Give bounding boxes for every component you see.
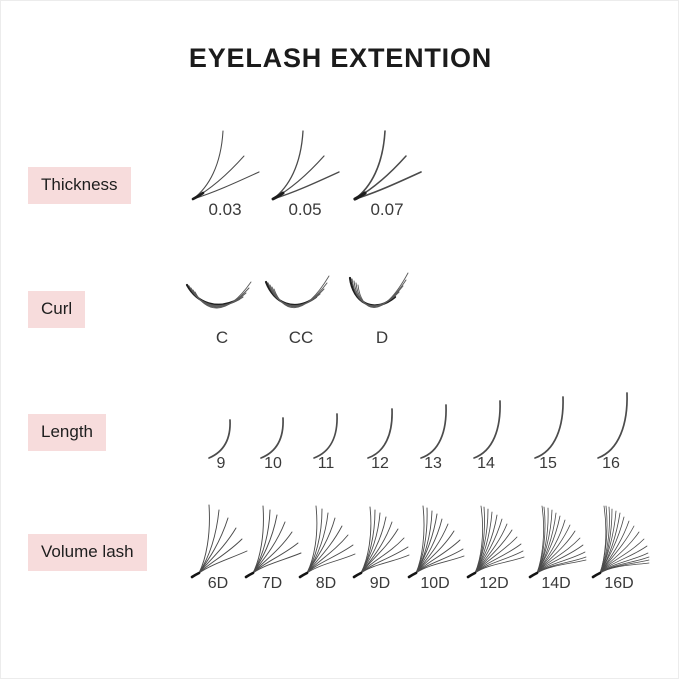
thickness-item-1: 0.05 xyxy=(267,125,343,218)
length-caption-2: 11 xyxy=(298,456,354,472)
volume-caption-1: 7D xyxy=(241,576,303,592)
volume-item-2: 8D xyxy=(295,501,357,592)
row-label-thickness: Thickness xyxy=(28,167,131,204)
volume-caption-4: 10D xyxy=(404,576,466,592)
lash-fan-thickness-icon xyxy=(349,125,425,203)
length-item-4: 13 xyxy=(405,392,461,472)
curl-item-2: D xyxy=(343,259,421,346)
lash-volume-fan-icon xyxy=(525,501,587,579)
lash-single-icon xyxy=(458,390,514,460)
volume-caption-2: 8D xyxy=(295,576,357,592)
lash-volume-fan-icon xyxy=(463,501,525,579)
length-item-0: 9 xyxy=(193,398,249,472)
length-item-6: 15 xyxy=(520,388,576,472)
length-caption-4: 13 xyxy=(405,456,461,472)
lash-curl-cc-icon xyxy=(262,259,340,327)
lash-volume-fan-icon xyxy=(349,501,411,579)
curl-caption-0: C xyxy=(183,329,261,346)
thickness-item-0: 0.03 xyxy=(187,125,263,218)
length-caption-0: 9 xyxy=(193,456,249,472)
length-item-3: 12 xyxy=(352,394,408,472)
lash-single-icon xyxy=(193,398,249,460)
thickness-caption-2: 0.07 xyxy=(349,201,425,218)
length-caption-7: 16 xyxy=(583,456,639,472)
volume-item-7: 16D xyxy=(588,501,650,592)
volume-caption-7: 16D xyxy=(588,576,650,592)
length-item-5: 14 xyxy=(458,390,514,472)
lash-volume-fan-icon xyxy=(588,501,650,579)
lash-fan-thickness-icon xyxy=(187,125,263,203)
volume-item-0: 6D xyxy=(187,501,249,592)
lash-volume-fan-icon xyxy=(187,501,249,579)
curl-item-0: C xyxy=(183,259,261,346)
length-caption-3: 12 xyxy=(352,456,408,472)
volume-caption-6: 14D xyxy=(525,576,587,592)
page-title: EYELASH EXTENTION xyxy=(1,43,679,74)
thickness-caption-0: 0.03 xyxy=(187,201,263,218)
lash-fan-thickness-icon xyxy=(267,125,343,203)
curl-caption-1: CC xyxy=(262,329,340,346)
row-label-volume: Volume lash xyxy=(28,534,147,571)
eyelash-extension-chart: EYELASH EXTENTION Thickness 0.03 xyxy=(0,0,679,679)
lash-curl-d-icon xyxy=(343,259,421,327)
lash-volume-fan-icon xyxy=(295,501,357,579)
lash-single-icon xyxy=(583,386,639,460)
curl-item-1: CC xyxy=(262,259,340,346)
volume-item-1: 7D xyxy=(241,501,303,592)
lash-curl-c-icon xyxy=(183,259,261,327)
lash-single-icon xyxy=(298,396,354,460)
volume-item-6: 14D xyxy=(525,501,587,592)
length-caption-6: 15 xyxy=(520,456,576,472)
lash-volume-fan-icon xyxy=(241,501,303,579)
lash-single-icon xyxy=(245,398,301,460)
length-item-7: 16 xyxy=(583,386,639,472)
volume-item-4: 10D xyxy=(404,501,466,592)
thickness-item-2: 0.07 xyxy=(349,125,425,218)
row-label-curl: Curl xyxy=(28,291,85,328)
row-label-length: Length xyxy=(28,414,106,451)
lash-single-icon xyxy=(520,388,576,460)
volume-item-5: 12D xyxy=(463,501,525,592)
length-item-1: 10 xyxy=(245,398,301,472)
volume-caption-0: 6D xyxy=(187,576,249,592)
length-item-2: 11 xyxy=(298,396,354,472)
lash-single-icon xyxy=(352,394,408,460)
volume-item-3: 9D xyxy=(349,501,411,592)
curl-caption-2: D xyxy=(343,329,421,346)
lash-single-icon xyxy=(405,392,461,460)
thickness-caption-1: 0.05 xyxy=(267,201,343,218)
volume-caption-5: 12D xyxy=(463,576,525,592)
length-caption-5: 14 xyxy=(458,456,514,472)
volume-caption-3: 9D xyxy=(349,576,411,592)
lash-volume-fan-icon xyxy=(404,501,466,579)
length-caption-1: 10 xyxy=(245,456,301,472)
